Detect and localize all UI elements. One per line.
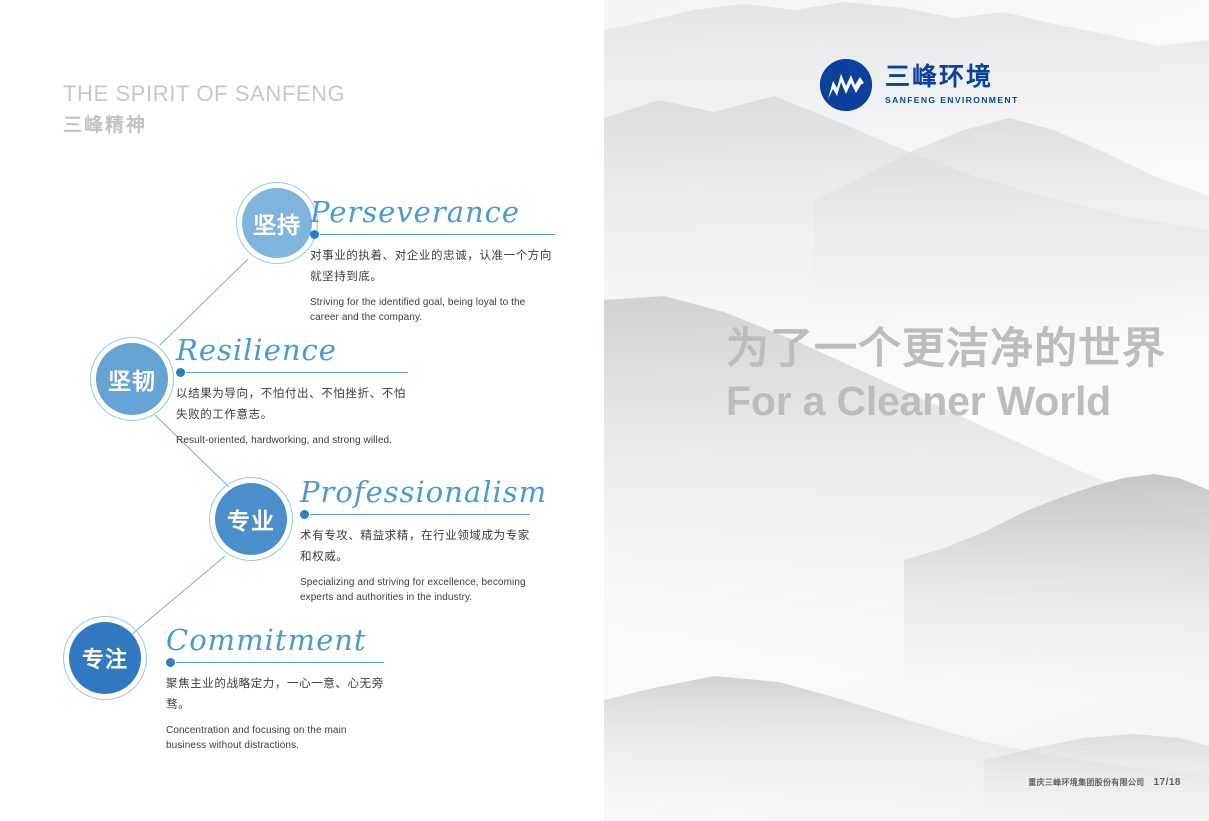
item-cn-commitment: 聚焦主业的战略定力，一心一意、心无旁骛。 (166, 674, 384, 717)
brochure-spread: THE SPIRIT OF SANFENG 三峰精神 坚持 Perseveran… (0, 0, 1209, 821)
item-en-professionalism: Specializing and striving for excellence… (300, 575, 530, 606)
item-block-commitment: Commitment 聚焦主业的战略定力，一心一意、心无旁骛。 Concentr… (166, 626, 384, 754)
item-block-professionalism: Professionalism 术有专攻、精益求精，在行业领域成为专家和权威。 … (300, 478, 530, 606)
item-cn-professionalism: 术有专攻、精益求精，在行业领域成为专家和权威。 (300, 526, 530, 569)
node-label-professionalism: 专业 (227, 502, 275, 536)
node-circle-professionalism[interactable]: 专业 (215, 483, 287, 555)
slogan-block: 为了一个更洁净的世界 For a Cleaner World (726, 325, 1166, 425)
logo-wordmark: 三峰环境 SANFENG ENVIRONMENT (885, 65, 1019, 105)
divider-line (186, 372, 408, 373)
right-panel: 三峰环境 SANFENG ENVIRONMENT 为了一个更洁净的世界 For … (604, 0, 1209, 821)
item-title-professionalism: Professionalism (300, 478, 530, 507)
left-panel: THE SPIRIT OF SANFENG 三峰精神 坚持 Perseveran… (0, 0, 604, 821)
logo-name-en: SANFENG ENVIRONMENT (885, 95, 1019, 105)
bullet-dot-icon (310, 230, 319, 239)
slogan-cn: 为了一个更洁净的世界 (726, 325, 1166, 373)
item-title-perseverance: Perseverance (310, 198, 555, 227)
item-cn-perseverance: 对事业的执着、对企业的忠诚，认准一个方向就坚持到底。 (310, 246, 555, 289)
node-circle-perseverance[interactable]: 坚持 (242, 188, 312, 258)
node-circle-resilience[interactable]: 坚韧 (96, 343, 168, 415)
bullet-dot-icon (176, 368, 185, 377)
company-logo: 三峰环境 SANFENG ENVIRONMENT (820, 59, 1019, 111)
item-rule-perseverance (310, 230, 555, 239)
item-en-resilience: Result-oriented, hardworking, and strong… (176, 433, 408, 449)
item-title-resilience: Resilience (176, 336, 408, 365)
item-rule-resilience (176, 368, 408, 377)
item-en-commitment: Concentration and focusing on the main b… (166, 723, 384, 754)
footer-company-name: 重庆三峰环境集团股份有限公司 (1028, 777, 1144, 788)
bullet-dot-icon (300, 510, 309, 519)
node-circle-commitment[interactable]: 专注 (69, 622, 141, 694)
spirit-heading-cn: 三峰精神 (63, 115, 345, 138)
sanfeng-mountain-mark-icon (820, 59, 872, 111)
spirit-heading: THE SPIRIT OF SANFENG 三峰精神 (63, 80, 345, 137)
bullet-dot-icon (166, 658, 175, 667)
node-label-perseverance: 坚持 (253, 206, 301, 240)
node-label-resilience: 坚韧 (108, 362, 156, 396)
slogan-en: For a Cleaner World (726, 378, 1166, 425)
item-cn-resilience: 以结果为导向，不怕付出、不怕挫折、不怕失败的工作意志。 (176, 384, 408, 427)
item-rule-professionalism (300, 510, 530, 519)
divider-line (320, 234, 555, 235)
item-block-perseverance: Perseverance 对事业的执着、对企业的忠诚，认准一个方向就坚持到底。 … (310, 198, 555, 326)
spirit-heading-en: THE SPIRIT OF SANFENG (63, 80, 345, 108)
divider-line (176, 662, 384, 663)
footer-page-number: 17/18 (1153, 777, 1181, 788)
item-rule-commitment (166, 658, 384, 667)
logo-name-cn: 三峰环境 (885, 65, 1019, 90)
item-title-commitment: Commitment (166, 626, 384, 655)
divider-line (310, 514, 530, 515)
item-en-perseverance: Striving for the identified goal, being … (310, 295, 555, 326)
item-block-resilience: Resilience 以结果为导向，不怕付出、不怕挫折、不怕失败的工作意志。 R… (176, 336, 408, 448)
node-label-commitment: 专注 (82, 642, 128, 674)
page-footer: 重庆三峰环境集团股份有限公司 17/18 (1028, 777, 1181, 788)
